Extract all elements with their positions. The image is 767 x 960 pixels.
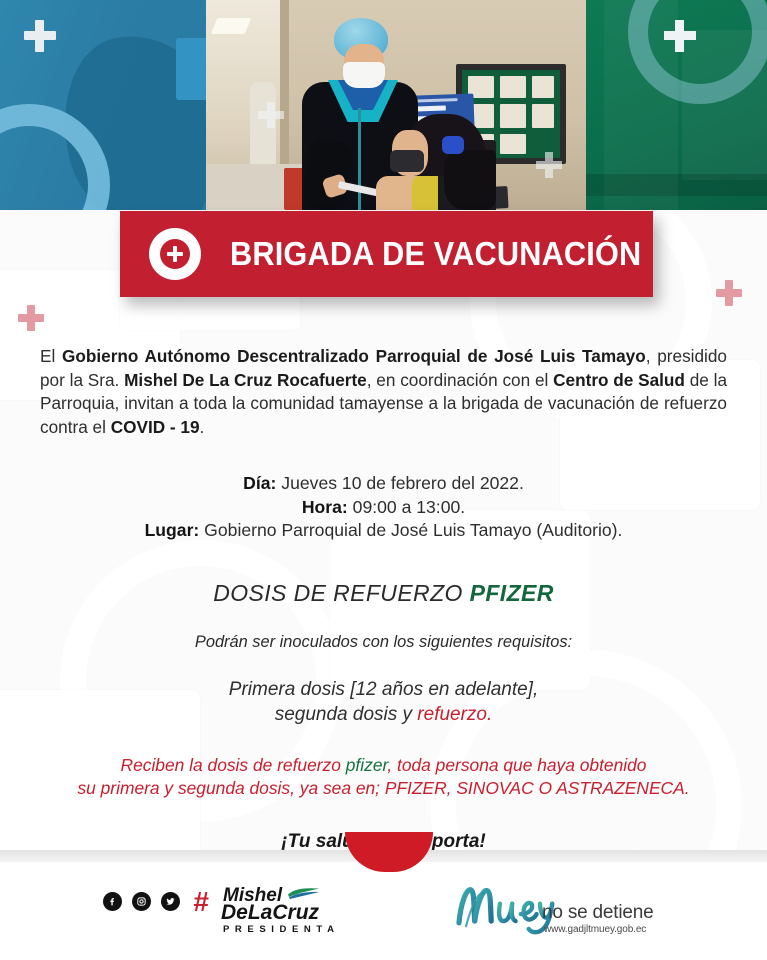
dose-heading-brand: PFIZER <box>470 580 554 606</box>
muey-logo: no se detiene www.gadjltmuey.gob.ec <box>452 880 672 946</box>
poster-root: El Gobierno Autónomo Descentralizado Par… <box>0 0 767 960</box>
detail-place-value: Gobierno Parroquial de José Luis Tamayo … <box>199 520 622 540</box>
hero-left-blue-panel <box>0 0 206 210</box>
photo-nurse-zipper <box>358 108 361 210</box>
social-links[interactable] <box>103 892 180 911</box>
facebook-icon[interactable] <box>103 892 122 911</box>
detail-day: Día: Jueves 10 de febrero del 2022. <box>40 472 727 495</box>
doses-line-2: segunda dosis y refuerzo. <box>40 703 727 728</box>
detail-place-label: Lugar: <box>145 520 200 540</box>
blue-chip-shape <box>176 38 206 100</box>
notice-line-1: Reciben la dosis de refuerzo pfizer, tod… <box>40 754 727 778</box>
photo-patient-mask <box>390 150 424 172</box>
intro-paragraph: El Gobierno Autónomo Descentralizado Par… <box>40 345 727 439</box>
photo-nurse-mask <box>343 62 385 88</box>
notice-text-2: , toda persona que haya obtenido <box>387 755 646 775</box>
hashtag-icon: # <box>193 888 206 916</box>
event-details: Día: Jueves 10 de febrero del 2022. Hora… <box>40 472 727 542</box>
muey-url[interactable]: www.gadjltmuey.gob.ec <box>544 924 646 935</box>
plus-icon <box>258 102 284 128</box>
banner-title: BRIGADA DE VACUNACIÓN <box>230 235 641 273</box>
twitter-icon[interactable] <box>161 892 180 911</box>
intro-text-5: . <box>200 417 205 437</box>
hero-right-green-panel <box>586 0 767 210</box>
detail-day-value: Jueves 10 de febrero del 2022. <box>276 473 523 493</box>
instagram-icon[interactable] <box>132 892 151 911</box>
intro-bold-org: Gobierno Autónomo Descentralizado Parroq… <box>62 346 646 366</box>
notice-brand-pfizer: pfizer <box>346 755 388 775</box>
plus-icon <box>716 280 742 306</box>
dose-heading-text: DOSIS DE REFUERZO <box>213 580 469 606</box>
photo-ceiling-light <box>211 18 251 34</box>
intro-bold-health-center: Centro de Salud <box>553 370 685 390</box>
plus-icon <box>18 305 44 331</box>
detail-time-label: Hora: <box>302 497 348 517</box>
requirements-text: Podrán ser inoculados con los siguientes… <box>40 633 727 652</box>
doses-line-2-text: segunda dosis y <box>275 704 418 725</box>
title-banner: BRIGADA DE VACUNACIÓN <box>120 211 653 297</box>
footer-section: # Mishel DeLaCruz PRESIDENTA <box>0 850 767 960</box>
green-bar-shape <box>586 174 767 196</box>
footer-content: # Mishel DeLaCruz PRESIDENTA <box>0 878 767 958</box>
body-section: El Gobierno Autónomo Descentralizado Par… <box>0 210 767 850</box>
doses-line-2-highlight: refuerzo. <box>417 704 492 725</box>
detail-place: Lugar: Gobierno Parroquial de José Luis … <box>40 519 727 542</box>
vaccine-cross-icon <box>149 228 201 280</box>
logo-name-line-2: DeLaCruz <box>221 902 319 923</box>
logo-role: PRESIDENTA <box>223 924 340 935</box>
content-column: El Gobierno Autónomo Descentralizado Par… <box>0 345 767 850</box>
intro-bold-covid: COVID - 19 <box>111 417 200 437</box>
intro-text-1: El <box>40 346 62 366</box>
plus-icon <box>24 20 56 52</box>
detail-time: Hora: 09:00 a 13:00. <box>40 496 727 519</box>
photo-patient-ponytail <box>444 150 496 210</box>
mishel-delacruz-logo: # Mishel DeLaCruz PRESIDENTA <box>193 884 321 942</box>
hero-photo <box>206 0 586 210</box>
dose-heading: DOSIS DE REFUERZO PFIZER <box>40 580 727 607</box>
red-arc-decor <box>345 832 433 872</box>
plus-icon <box>664 20 696 52</box>
doses-line-1: Primera dosis [12 años en adelante], <box>40 678 727 703</box>
plus-icon <box>536 152 562 178</box>
photo-patient-hair-tie <box>442 136 464 154</box>
detail-day-label: Día: <box>243 473 276 493</box>
notice-text-1: Reciben la dosis de refuerzo <box>121 755 346 775</box>
doses-list: Primera dosis [12 años en adelante], seg… <box>40 678 727 727</box>
notice-block: Reciben la dosis de refuerzo pfizer, tod… <box>40 754 727 801</box>
intro-bold-president: Mishel De La Cruz Rocafuerte <box>124 370 367 390</box>
intro-text-3: , en coordinación con el <box>367 370 553 390</box>
brush-stroke-icon <box>287 886 320 899</box>
muey-slogan: no se detiene <box>542 902 654 924</box>
notice-line-2: su primera y segunda dosis, ya sea en; P… <box>40 777 727 801</box>
hero-section <box>0 0 767 210</box>
detail-time-value: 09:00 a 13:00. <box>348 497 465 517</box>
